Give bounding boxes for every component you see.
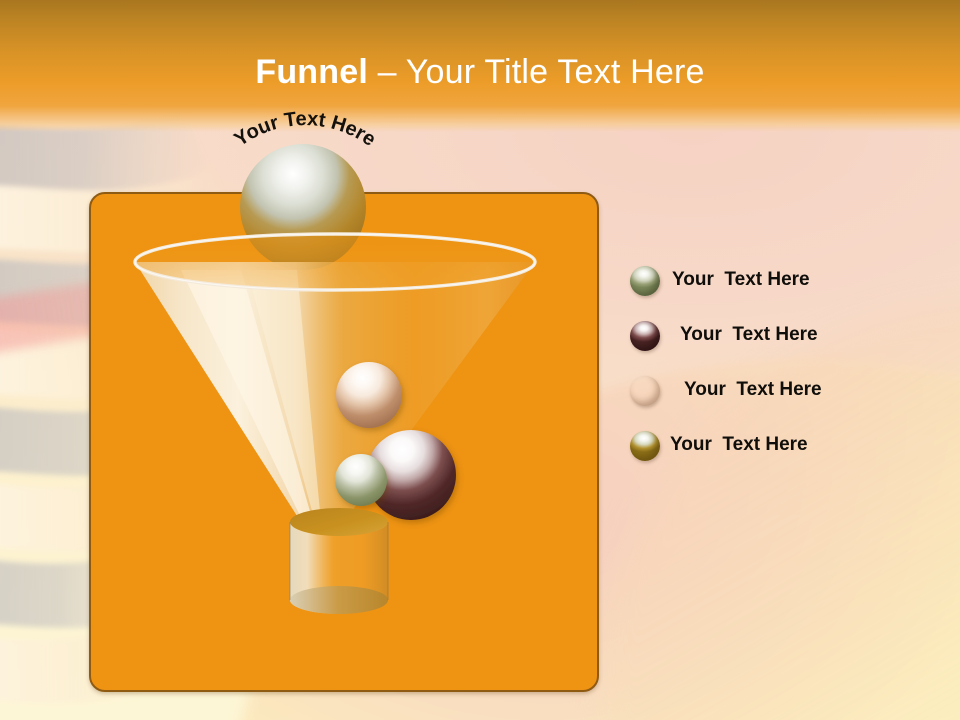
legend-item[interactable]: Your Text Here: [618, 313, 938, 368]
legend-item-label: Your Text Here: [672, 266, 810, 294]
content-panel[interactable]: Example Text: [89, 192, 599, 692]
slide-title: Funnel – Your Title Text Here: [0, 52, 960, 92]
legend-item[interactable]: Your Text Here: [618, 423, 938, 478]
legend-bullet-icon: [630, 266, 660, 296]
legend-bullet-icon: [630, 431, 660, 461]
arc-label: Your Text Here: [195, 122, 415, 212]
legend-item-label: Your Text Here: [684, 376, 822, 404]
legend-bullet-icon: [630, 376, 660, 406]
legend-item-label: Your Text Here: [680, 321, 818, 349]
slide-title-regular-part: – Your Title Text Here: [378, 53, 705, 91]
legend-list: Your Text Here Your Text Here Your Text …: [618, 258, 938, 478]
legend-bullet-icon: [630, 321, 660, 351]
legend-item[interactable]: Your Text Here: [618, 368, 938, 423]
legend-item-label: Your Text Here: [670, 431, 808, 459]
legend-item[interactable]: Your Text Here: [618, 258, 938, 313]
slide-title-bold-part: Funnel: [255, 53, 377, 91]
presentation-slide: Funnel – Your Title Text Here Example Te…: [0, 0, 960, 720]
